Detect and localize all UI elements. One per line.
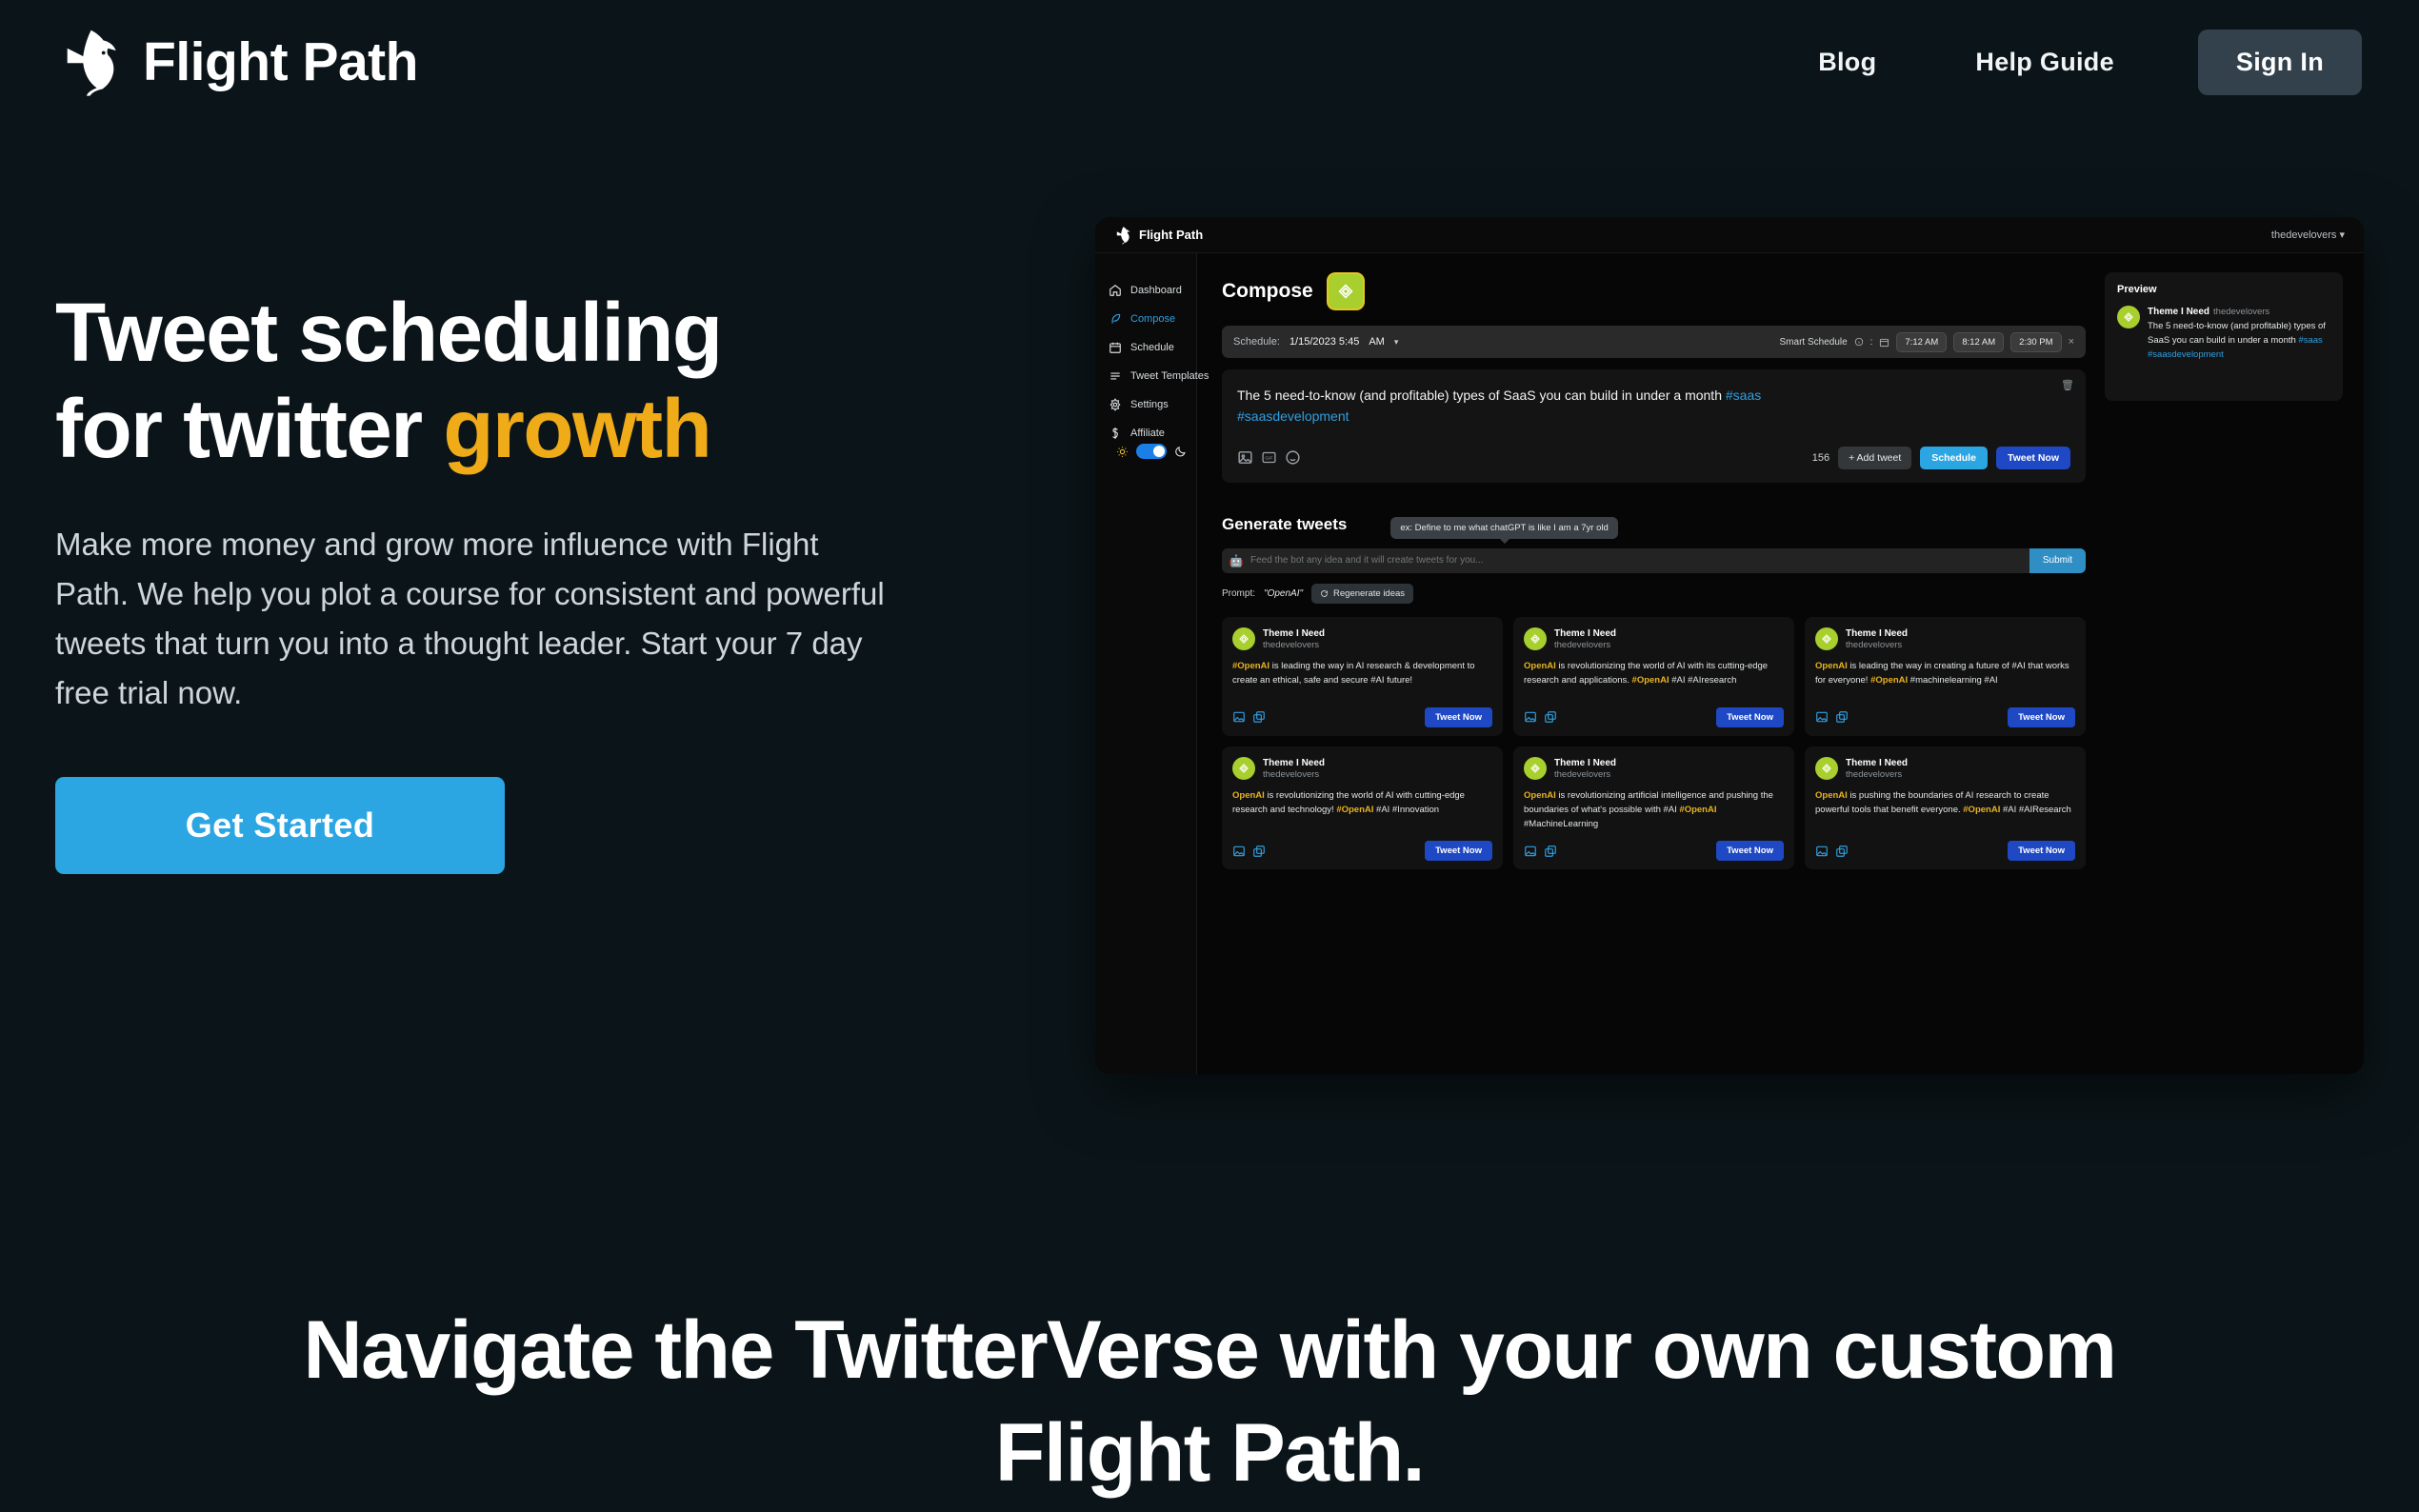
gif-icon[interactable]: GIF (1261, 449, 1277, 466)
generate-header: Generate tweets ex: Define to me what ch… (1222, 515, 2086, 539)
tweet-card: Theme I Need thedevelovers #OpenAI is le… (1222, 617, 1503, 736)
feather-icon (1109, 312, 1122, 326)
avatar (1232, 757, 1255, 780)
image-icon[interactable] (1815, 845, 1829, 858)
hero-subtitle: Make more money and grow more influence … (55, 520, 893, 719)
prompt-value: "OpenAI" (1264, 588, 1303, 599)
svg-text:GIF: GIF (1265, 456, 1272, 462)
compose-text-main: The 5 need-to-know (and profitable) type… (1237, 388, 1726, 403)
tweet-card-footer: Tweet Now (1232, 831, 1492, 861)
compose-toolbar: GIF 156 + Add tweet Schedule Tweet Now (1237, 447, 2070, 469)
regenerate-label: Regenerate ideas (1333, 588, 1405, 599)
avatar (1524, 757, 1547, 780)
tweet-card-body: OpenAI is revolutionizing the world of A… (1524, 659, 1784, 687)
sidebar-label: Tweet Templates (1130, 370, 1209, 382)
tweet-author-name: Theme I Need (1263, 757, 1325, 769)
time-chip[interactable]: 2:30 PM (2010, 332, 2061, 352)
diamond-icon (2122, 310, 2135, 324)
card-tweet-now-button[interactable]: Tweet Now (1716, 841, 1784, 861)
app-body: Dashboard Compose Schedule Tweet Templat… (1095, 253, 2364, 1074)
nav-link-blog[interactable]: Blog (1769, 48, 1926, 77)
theme-toggle[interactable] (1116, 444, 1187, 459)
preview-author-handle: thedevelovers (2213, 307, 2269, 317)
hero-title-accent: growth (443, 383, 710, 475)
regenerate-ideas-button[interactable]: Regenerate ideas (1311, 584, 1413, 604)
copy-icon[interactable] (1252, 710, 1266, 724)
tweet-card-footer: Tweet Now (1815, 831, 2075, 861)
tweet-author-handle: thedevelovers (1263, 640, 1325, 651)
tweet-card-header: Theme I Need thedevelovers (1524, 757, 1784, 781)
tweet-author-name: Theme I Need (1263, 627, 1325, 640)
account-menu[interactable]: thedevelovers ▾ (2271, 229, 2345, 241)
nav-link-help-guide[interactable]: Help Guide (1926, 48, 2164, 77)
sidebar-item-tweet-templates[interactable]: Tweet Templates (1095, 362, 1196, 390)
generate-input[interactable] (1250, 548, 2029, 573)
tweet-author-name: Theme I Need (1846, 627, 1908, 640)
diamond-icon (1237, 762, 1250, 775)
tweet-card-header: Theme I Need thedevelovers (1815, 757, 2075, 781)
calendar-icon[interactable] (1879, 337, 1889, 348)
sidebar-item-dashboard[interactable]: Dashboard (1095, 276, 1196, 305)
sun-icon (1116, 446, 1129, 458)
card-tweet-now-button[interactable]: Tweet Now (1425, 707, 1492, 727)
preview-text: The 5 need-to-know (and profitable) type… (2148, 319, 2330, 363)
tweet-card-footer: Tweet Now (1815, 698, 2075, 727)
app-topbar: Flight Path thedevelovers ▾ (1095, 217, 2364, 253)
gear-icon (1109, 398, 1122, 411)
smart-schedule-separator: : (1870, 337, 1873, 348)
generated-tweets-grid: Theme I Need thedevelovers #OpenAI is le… (1222, 617, 2086, 869)
tweet-now-button[interactable]: Tweet Now (1996, 447, 2070, 469)
info-icon[interactable] (1854, 337, 1864, 347)
tweet-card-header: Theme I Need thedevelovers (1232, 627, 1492, 651)
brand-name: Flight Path (143, 30, 418, 93)
tweet-card-body: OpenAI is revolutionizing artificial int… (1524, 788, 1784, 831)
copy-icon[interactable] (1544, 845, 1557, 858)
tweet-author-name: Theme I Need (1846, 757, 1908, 769)
compose-header: Compose (1222, 272, 2086, 310)
compose-badge-icon (1327, 272, 1365, 310)
preview-card: Preview Theme I Needthedevelovers The 5 … (2105, 272, 2343, 401)
image-icon[interactable] (1524, 710, 1537, 724)
tweet-card-header: Theme I Need thedevelovers (1524, 627, 1784, 651)
character-count: 156 (1812, 452, 1829, 464)
diamond-icon (1335, 281, 1356, 302)
generate-input-row: 🤖 Submit (1222, 548, 2086, 573)
section-headline: Navigate the TwitterVerse with your own … (0, 1300, 2419, 1504)
image-icon[interactable] (1237, 449, 1253, 466)
image-icon[interactable] (1232, 710, 1246, 724)
compose-editor[interactable]: 🗑 The 5 need-to-know (and profitable) ty… (1222, 369, 2086, 483)
avatar (1524, 627, 1547, 650)
compose-actions: 156 + Add tweet Schedule Tweet Now (1812, 447, 2070, 469)
compose-hashtag: #saas (1726, 388, 1761, 403)
prompt-row: Prompt: "OpenAI" Regenerate ideas (1222, 584, 2086, 604)
sidebar-label: Compose (1130, 313, 1175, 325)
tweet-card: Theme I Need thedevelovers OpenAI is pus… (1805, 746, 2086, 869)
tweet-card: Theme I Need thedevelovers OpenAI is lea… (1805, 617, 2086, 736)
sidebar-item-settings[interactable]: Settings (1095, 390, 1196, 419)
preview-label: Preview (2117, 284, 2330, 295)
list-icon (1109, 369, 1122, 383)
sidebar-label: Dashboard (1130, 285, 1182, 296)
diamond-icon (1820, 762, 1833, 775)
tweet-card-footer: Tweet Now (1524, 831, 1784, 861)
sidebar-item-schedule[interactable]: Schedule (1095, 333, 1196, 362)
tweet-card-body: OpenAI is pushing the boundaries of AI r… (1815, 788, 2075, 817)
diamond-icon (1237, 632, 1250, 646)
tweet-card: Theme I Need thedevelovers OpenAI is rev… (1222, 746, 1503, 869)
avatar (1815, 627, 1838, 650)
schedule-label: Schedule: (1233, 336, 1280, 348)
hero-section: Tweet scheduling for twitter growth Make… (55, 286, 960, 874)
tweet-card-header: Theme I Need thedevelovers (1232, 757, 1492, 781)
schedule-datetime[interactable]: 1/15/2023 5:45 (1289, 336, 1359, 348)
home-icon (1109, 284, 1122, 297)
dove-icon (1114, 226, 1133, 245)
tweet-author-handle: thedevelovers (1846, 640, 1908, 651)
refresh-icon (1320, 589, 1329, 598)
compose-text: The 5 need-to-know (and profitable) type… (1237, 385, 2070, 428)
avatar (1232, 627, 1255, 650)
sidebar-label: Affiliate (1130, 428, 1165, 439)
compose-hashtag: #saasdevelopment (1237, 408, 1349, 424)
copy-icon[interactable] (1835, 845, 1849, 858)
tweet-card-body: OpenAI is revolutionizing the world of A… (1232, 788, 1492, 817)
schedule-button[interactable]: Schedule (1920, 447, 1988, 469)
sidebar-label: Schedule (1130, 342, 1174, 353)
tweet-card-body: OpenAI is leading the way in creating a … (1815, 659, 2075, 687)
image-icon[interactable] (1815, 710, 1829, 724)
tweet-card-header: Theme I Need thedevelovers (1815, 627, 2075, 651)
tweet-card: Theme I Need thedevelovers OpenAI is rev… (1513, 746, 1794, 869)
tweet-card: Theme I Need thedevelovers OpenAI is rev… (1513, 617, 1794, 736)
get-started-button[interactable]: Get Started (55, 777, 505, 874)
copy-icon[interactable] (1544, 710, 1557, 724)
submit-button[interactable]: Submit (2029, 548, 2086, 573)
app-screenshot-mockup: Flight Path thedevelovers ▾ Dashboard Co… (1095, 217, 2364, 1074)
dove-icon (57, 26, 130, 98)
tweet-card-footer: Tweet Now (1232, 698, 1492, 727)
prompt-label: Prompt: (1222, 588, 1255, 599)
app-sidebar: Dashboard Compose Schedule Tweet Templat… (1095, 253, 1197, 1074)
image-icon[interactable] (1524, 845, 1537, 858)
tweet-card-body: #OpenAI is leading the way in AI researc… (1232, 659, 1492, 687)
sidebar-label: Settings (1130, 399, 1169, 410)
hero-title: Tweet scheduling for twitter growth (55, 286, 960, 478)
tweet-author-handle: thedevelovers (1554, 640, 1616, 651)
tweet-author-handle: thedevelovers (1554, 769, 1616, 781)
tweet-card-footer: Tweet Now (1524, 698, 1784, 727)
chevron-down-icon[interactable]: ▾ (1394, 337, 1399, 348)
hero-title-line2-plain: for twitter (55, 383, 443, 475)
add-tweet-button[interactable]: + Add tweet (1838, 447, 1911, 469)
emoji-icon[interactable] (1285, 449, 1301, 466)
diamond-icon (1529, 632, 1542, 646)
brand-logo[interactable]: Flight Path (57, 26, 418, 98)
trash-icon[interactable]: 🗑 (2061, 379, 2074, 391)
calendar-icon (1109, 341, 1122, 354)
card-tweet-now-button[interactable]: Tweet Now (2008, 707, 2075, 727)
copy-icon[interactable] (1835, 710, 1849, 724)
app-brand-name: Flight Path (1139, 228, 1203, 242)
smart-schedule-label: Smart Schedule (1780, 337, 1848, 348)
diamond-icon (1529, 762, 1542, 775)
preview-hashtag: #saasdevelopment (2148, 349, 2224, 360)
moon-icon (1174, 446, 1187, 458)
tweet-author-handle: thedevelovers (1846, 769, 1908, 781)
generate-title: Generate tweets (1222, 515, 1347, 534)
top-navigation: Flight Path Blog Help Guide Sign In (0, 0, 2419, 124)
tweet-author-name: Theme I Need (1554, 627, 1616, 640)
robot-icon: 🤖 (1222, 548, 1250, 573)
nav-links: Blog Help Guide Sign In (1769, 30, 2362, 95)
card-tweet-now-button[interactable]: Tweet Now (1716, 707, 1784, 727)
image-icon[interactable] (1232, 845, 1246, 858)
hero-title-line1: Tweet scheduling (55, 287, 722, 379)
preview-column: Preview Theme I Needthedevelovers The 5 … (2105, 272, 2343, 1074)
card-tweet-now-button[interactable]: Tweet Now (1425, 841, 1492, 861)
avatar (2117, 306, 2140, 328)
generate-tooltip: ex: Define to me what chatGPT is like I … (1390, 517, 1617, 539)
preview-author-name: Theme I Need (2148, 307, 2209, 317)
compose-column: Compose Schedule: 1/15/2023 5:45 AM ▾ Sm… (1222, 272, 2086, 1074)
sidebar-item-compose[interactable]: Compose (1095, 305, 1196, 333)
compose-title: Compose (1222, 280, 1313, 303)
copy-icon[interactable] (1252, 845, 1266, 858)
time-chip[interactable]: 7:12 AM (1896, 332, 1947, 352)
sign-in-button[interactable]: Sign In (2198, 30, 2362, 95)
preview-hashtag: #saas (2298, 335, 2322, 346)
card-tweet-now-button[interactable]: Tweet Now (2008, 841, 2075, 861)
preview-tweet: Theme I Needthedevelovers The 5 need-to-… (2117, 306, 2330, 363)
tweet-author-name: Theme I Need (1554, 757, 1616, 769)
schedule-bar: Schedule: 1/15/2023 5:45 AM ▾ Smart Sche… (1222, 326, 2086, 358)
time-chip[interactable]: 8:12 AM (1953, 332, 2004, 352)
smart-schedule-group: Smart Schedule : 7:12 AM 8:12 AM 2:30 PM… (1780, 332, 2074, 352)
clear-times-button[interactable]: × (2069, 336, 2074, 348)
app-main-content: Compose Schedule: 1/15/2023 5:45 AM ▾ Sm… (1197, 253, 2364, 1074)
diamond-icon (1820, 632, 1833, 646)
tweet-author-handle: thedevelovers (1263, 769, 1325, 781)
app-brand[interactable]: Flight Path (1114, 226, 1203, 245)
dollar-icon (1109, 427, 1122, 440)
schedule-meridiem[interactable]: AM (1369, 336, 1385, 348)
avatar (1815, 757, 1838, 780)
theme-toggle-switch[interactable] (1136, 444, 1167, 459)
